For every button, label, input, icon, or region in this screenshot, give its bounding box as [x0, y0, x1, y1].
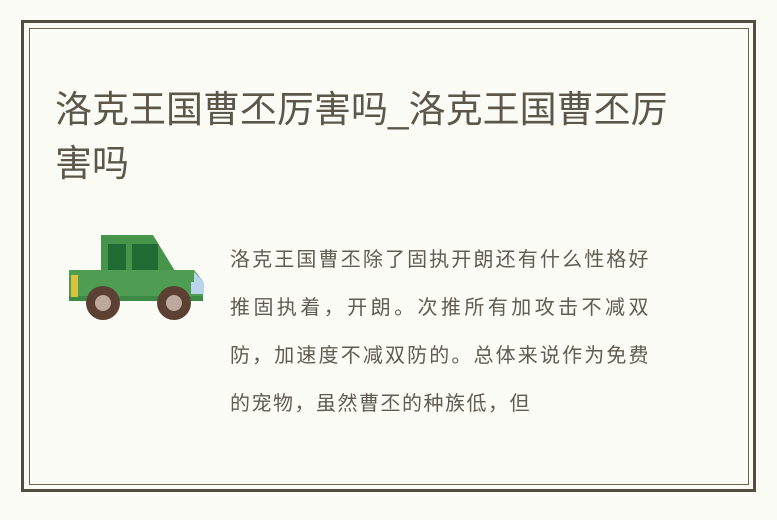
- truck-illustration: [63, 223, 208, 323]
- green-pickup-truck-icon: [63, 223, 208, 323]
- page-title: 洛克王国曹丕厉害吗_洛克王国曹丕厉害吗: [55, 83, 675, 191]
- article-body: 洛克王国曹丕除了固执开朗还有什么性格好推固执着，开朗。次推所有加攻击不减双防，加…: [230, 235, 650, 427]
- document-page: 洛克王国曹丕厉害吗_洛克王国曹丕厉害吗: [0, 0, 777, 520]
